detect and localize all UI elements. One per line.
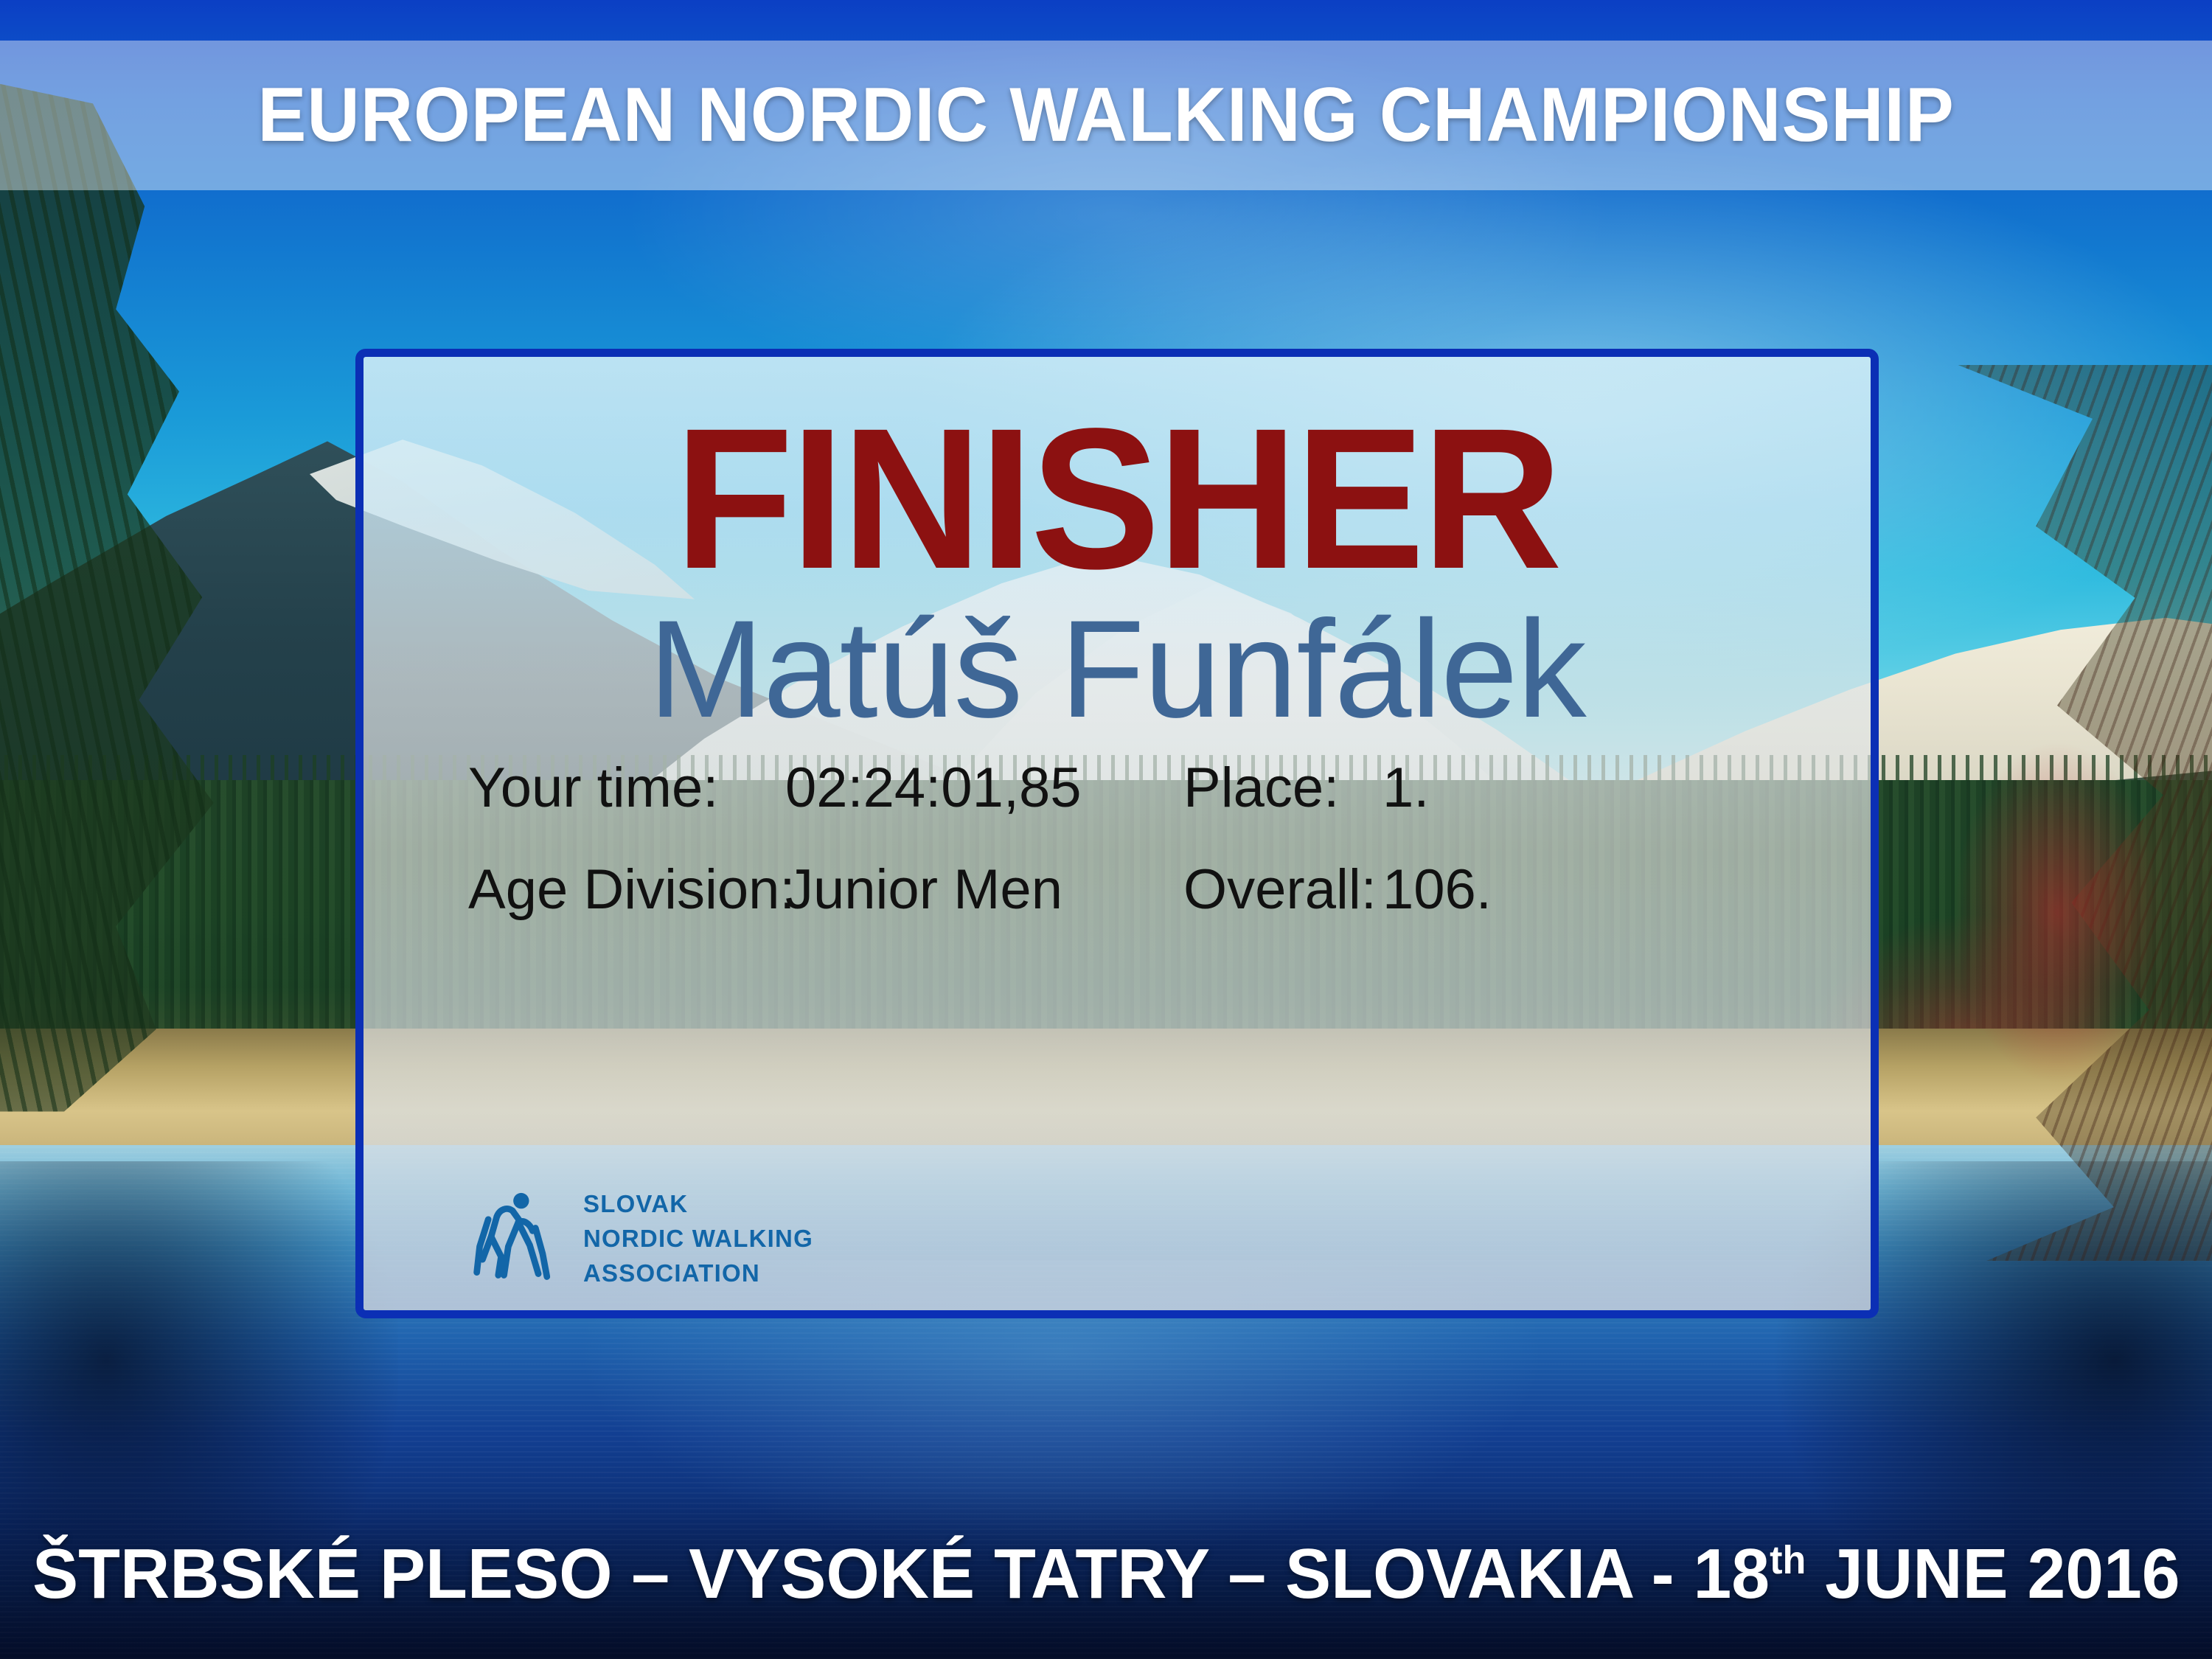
overall-label: Overall:: [1183, 862, 1382, 918]
place-value: 1.: [1382, 760, 1429, 816]
result-row-division: Age Division: Junior Men Overall: 106.: [468, 862, 1871, 918]
place-label: Place:: [1183, 760, 1382, 816]
foreground-red-berries: [1947, 730, 2168, 1095]
footer-suffix: JUNE 2016: [1806, 1534, 2180, 1613]
logo-line-nordic-walking: NORDIC WALKING: [583, 1222, 813, 1256]
age-division-label: Age Division:: [468, 862, 785, 918]
nordic-walker-icon: [467, 1191, 567, 1288]
result-row-time: Your time: 02:24:01,85 Place: 1.: [468, 760, 1871, 816]
athlete-name: Matúš Funfálek: [364, 599, 1871, 738]
event-location-date: ŠTRBSKÉ PLESO – VYSOKÉ TATRY – SLOVAKIA …: [32, 1534, 2180, 1615]
overall-value: 106.: [1382, 862, 1492, 918]
footer-prefix: ŠTRBSKÉ PLESO – VYSOKÉ TATRY – SLOVAKIA …: [32, 1534, 1770, 1613]
logo-line-association: ASSOCIATION: [583, 1256, 813, 1291]
walker-head: [513, 1193, 529, 1208]
championship-title: EUROPEAN NORDIC WALKING CHAMPIONSHIP: [257, 72, 1954, 159]
result-details: Your time: 02:24:01,85 Place: 1. Age Div…: [468, 760, 1871, 918]
header-banner: EUROPEAN NORDIC WALKING CHAMPIONSHIP: [0, 41, 2212, 190]
your-time-value: 02:24:01,85: [785, 760, 1183, 816]
ordinal-suffix: th: [1770, 1538, 1806, 1582]
certificate-canvas: EUROPEAN NORDIC WALKING CHAMPIONSHIP FIN…: [0, 0, 2212, 1659]
age-division-value: Junior Men: [785, 862, 1183, 918]
finisher-heading: FINISHER: [386, 403, 1848, 595]
logo-line-slovak: SLOVAK: [583, 1187, 813, 1222]
association-logo-text: SLOVAK NORDIC WALKING ASSOCIATION: [583, 1187, 813, 1291]
association-logo: SLOVAK NORDIC WALKING ASSOCIATION: [467, 1187, 813, 1291]
finisher-card: FINISHER Matúš Funfálek Your time: 02:24…: [355, 349, 1879, 1318]
your-time-label: Your time:: [468, 760, 785, 816]
footer-banner: ŠTRBSKÉ PLESO – VYSOKÉ TATRY – SLOVAKIA …: [0, 1489, 2212, 1659]
